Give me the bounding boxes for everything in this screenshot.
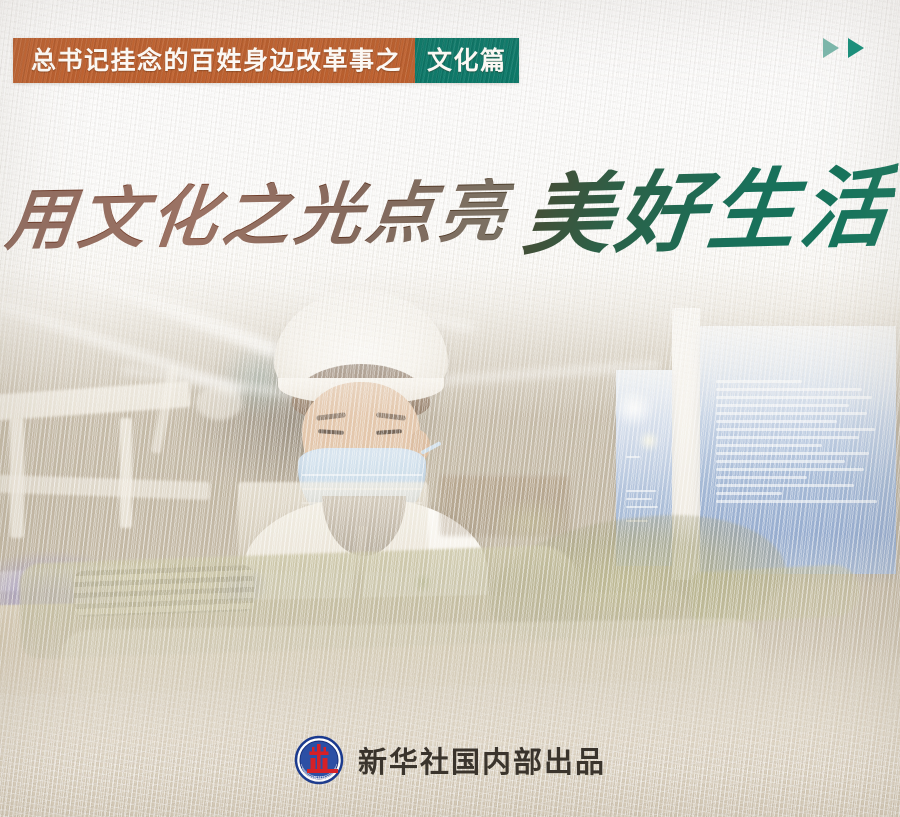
arrow-marks <box>823 38 864 58</box>
headline: 用文化之光点亮 美好生活 <box>0 150 900 280</box>
headline-part-green: 美好生活 <box>519 163 898 260</box>
headline-part-brown: 用文化之光点亮 <box>3 177 515 253</box>
mask-pleat <box>302 474 422 476</box>
footer-credit-text: 新华社国内部出品 <box>358 739 606 781</box>
lab-apparatus <box>120 418 132 528</box>
xinhua-wordmark: XINHUA <box>308 775 329 780</box>
xinhua-logo-icon: XINHUA <box>294 735 344 785</box>
lamp-glow <box>614 388 654 428</box>
lamp-glow <box>638 430 660 452</box>
bronze-artifact <box>689 564 861 625</box>
artifact-ridges <box>73 565 254 617</box>
banner-main-text: 总书记挂念的百姓身边改革事之 <box>31 48 402 73</box>
photo-collage <box>0 268 900 768</box>
poster-root: 总书记挂念的百姓身边改革事之 文化篇 用文化之光点亮 美好生活 <box>0 0 900 817</box>
banner-main-block: 总书记挂念的百姓身边改革事之 <box>13 38 415 83</box>
play-arrow-light-icon <box>823 38 839 58</box>
footer-credit: XINHUA 新华社国内部出品 <box>0 733 900 787</box>
bronze-artifact <box>59 618 760 704</box>
banner-chapter-text: 文化篇 <box>427 48 507 73</box>
banner-chapter-block: 文化篇 <box>415 38 519 83</box>
series-banner: 总书记挂念的百姓身边改革事之 文化篇 <box>13 38 519 83</box>
play-arrow-solid-icon <box>848 38 864 58</box>
